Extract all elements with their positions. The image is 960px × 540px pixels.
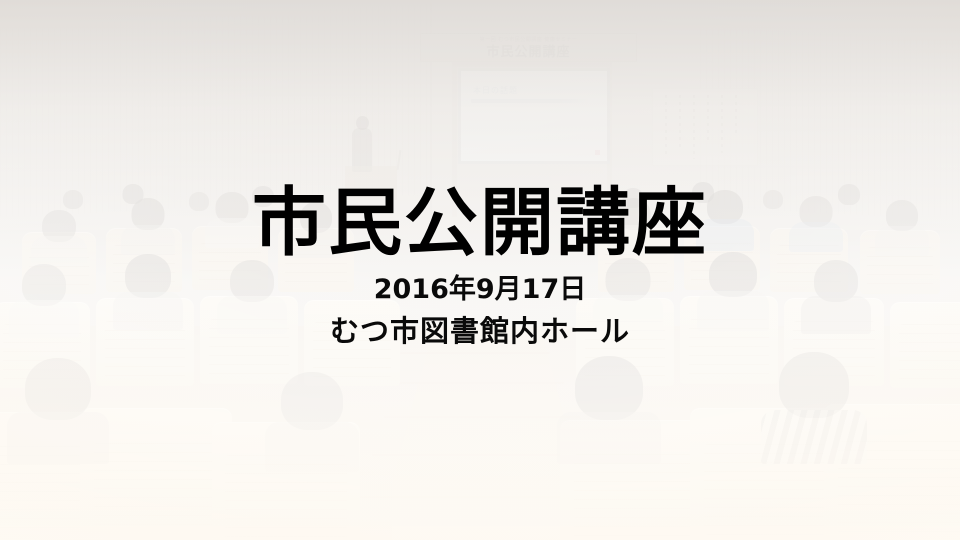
title-text-layer: 市民公開講座 2016年9月17日 むつ市図書館内ホール: [0, 0, 960, 540]
event-venue: むつ市図書館内ホール: [330, 317, 630, 346]
page-title: 市民公開講座: [252, 186, 708, 260]
event-date: 2016年9月17日: [374, 276, 587, 303]
slide-root: 第一回 むつ市民公開講座 健康セミナー 市民公開講座 本日の話題: [0, 0, 960, 540]
